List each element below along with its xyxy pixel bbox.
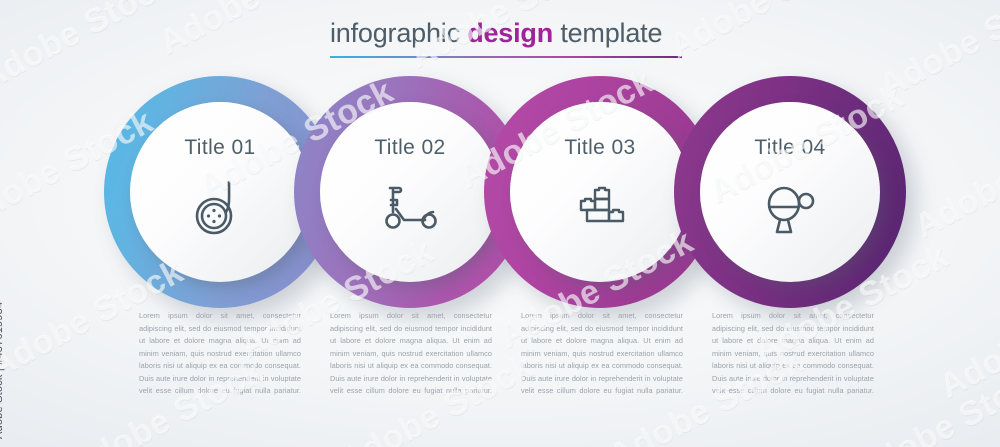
step-disc-4: Title 04	[700, 102, 880, 282]
title-underline-rule	[330, 56, 682, 58]
step-title-3: Title 03	[564, 136, 635, 160]
step-title-2: Title 02	[374, 136, 445, 160]
page-header: infographic design template	[330, 20, 690, 58]
step-description-2: Lorem ipsum dolor sit amet, consectetur …	[330, 310, 492, 410]
title-suffix: template	[553, 18, 662, 48]
step-disc-2: Title 02	[320, 102, 500, 282]
toy-bricks-icon	[563, 170, 637, 244]
step-title-4: Title 04	[754, 136, 825, 160]
infographic-steps: Title 01 Title 02	[0, 76, 1000, 316]
step-disc-1: Title 01	[130, 102, 310, 282]
title-accent-word: design	[467, 18, 553, 48]
stock-asset-id: Adobe Stock | #457619954	[0, 302, 5, 439]
watermark-text: Adobe Stock	[663, 0, 870, 67]
watermark-text: Adobe Stock	[153, 0, 360, 63]
step-item-4[interactable]: Title 04	[674, 76, 906, 308]
step-disc-3: Title 03	[510, 102, 690, 282]
page-title: infographic design template	[330, 20, 690, 47]
yo-yo-icon	[183, 170, 257, 244]
ping-pong-racket-icon	[753, 170, 827, 244]
step-description-1: Lorem ipsum dolor sit amet, consectetur …	[139, 310, 301, 410]
title-prefix: infographic	[330, 18, 467, 48]
kick-scooter-icon	[373, 170, 447, 244]
step-description-4: Lorem ipsum dolor sit amet, consectetur …	[712, 310, 874, 410]
step-description-3: Lorem ipsum dolor sit amet, consectetur …	[521, 310, 683, 410]
step-title-1: Title 01	[184, 136, 255, 160]
